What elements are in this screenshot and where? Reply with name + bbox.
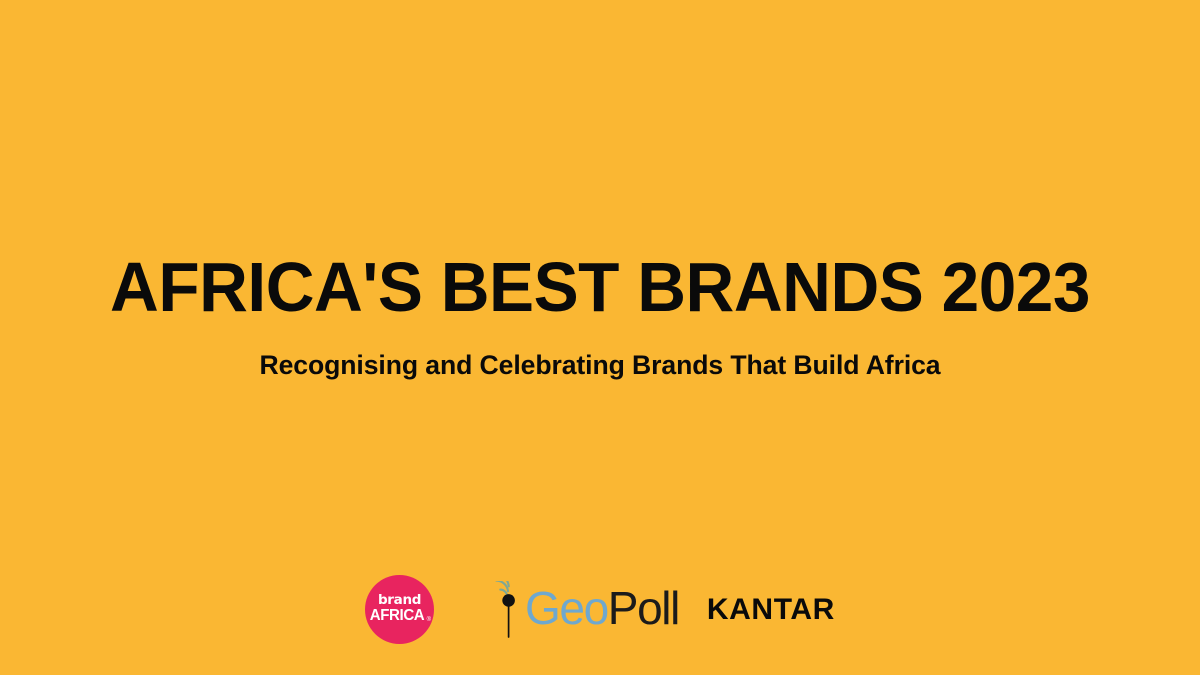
brand-africa-line1: brand	[378, 594, 421, 608]
registered-trademark-icon: ®	[427, 617, 431, 623]
geopoll-word-poll: Poll	[608, 582, 679, 634]
brand-africa-line2: AFRICA	[370, 608, 425, 624]
brand-africa-logo: brand AFRICA ®	[365, 575, 434, 644]
geopoll-word-geo: Geo	[525, 582, 608, 634]
presentation-slide: AFRICA'S BEST BRANDS 2023 Recognising an…	[0, 0, 1200, 675]
page-title: AFRICA'S BEST BRANDS 2023	[21, 252, 1179, 322]
page-subtitle: Recognising and Celebrating Brands That …	[9, 322, 1191, 379]
headline-block: AFRICA'S BEST BRANDS 2023 Recognising an…	[0, 252, 1200, 379]
geopoll-wordmark: GeoPoll	[525, 585, 679, 631]
geopoll-logo: GeoPoll	[490, 579, 679, 639]
antenna-signal-icon	[490, 581, 524, 639]
brand-africa-line2-wrap: AFRICA ®	[368, 608, 431, 624]
kantar-logo: KANTAR	[707, 595, 835, 625]
partner-logo-row: brand AFRICA ® GeoPoll KANTAR	[0, 571, 1200, 647]
